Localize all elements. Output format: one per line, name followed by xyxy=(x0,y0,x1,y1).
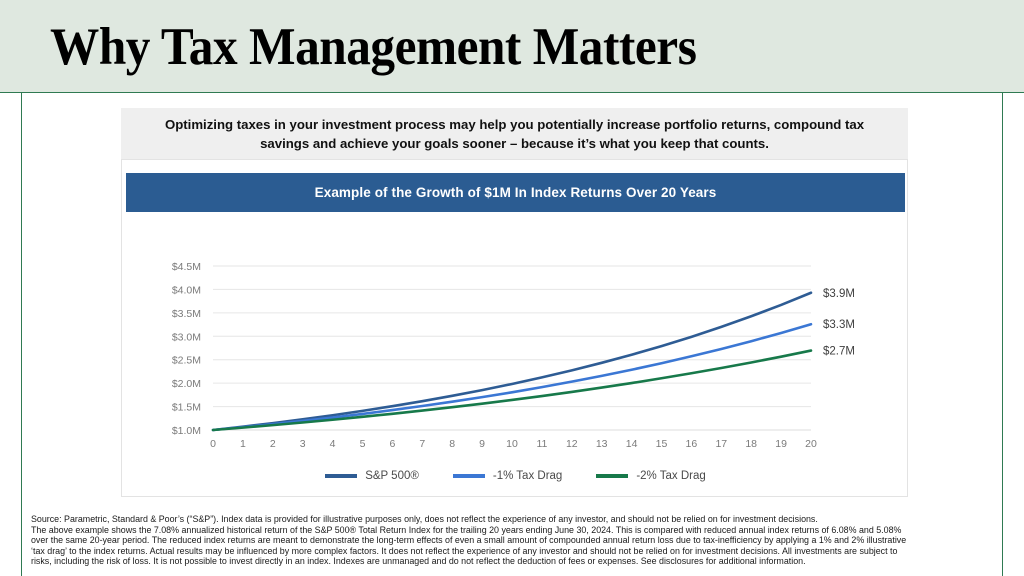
x-axis-tick-label: 8 xyxy=(449,438,455,450)
x-axis-tick-label: 4 xyxy=(330,438,336,450)
x-axis-tick-label: 11 xyxy=(536,438,547,450)
chart-series-line xyxy=(213,324,811,430)
x-axis-tick-label: 19 xyxy=(775,438,787,450)
x-axis-tick-label: 10 xyxy=(506,438,518,450)
x-axis-tick-label: 1 xyxy=(240,438,246,450)
y-axis-tick-label: $1.0M xyxy=(172,425,201,437)
footnote-line: Source: Parametric, Standard & Poor’s (“… xyxy=(31,514,996,525)
x-axis-tick-label: 12 xyxy=(566,438,578,450)
legend-label: -2% Tax Drag xyxy=(636,470,705,482)
footnote-line: The above example shows the 7.08% annual… xyxy=(31,525,996,536)
y-axis-tick-label: $2.5M xyxy=(172,355,201,367)
chart-legend: S&P 500®-1% Tax Drag-2% Tax Drag xyxy=(122,470,909,482)
y-axis-tick-label: $3.0M xyxy=(172,331,201,343)
footnote-disclosure: Source: Parametric, Standard & Poor’s (“… xyxy=(31,514,996,567)
subtitle-text: Optimizing taxes in your investment proc… xyxy=(165,115,865,153)
x-axis-tick-label: 13 xyxy=(596,438,608,450)
x-axis-tick-label: 9 xyxy=(479,438,485,450)
x-axis-tick-label: 7 xyxy=(419,438,425,450)
x-axis-tick-label: 15 xyxy=(656,438,668,450)
legend-swatch-icon xyxy=(596,474,628,478)
y-axis-tick-label: $3.5M xyxy=(172,308,201,320)
chart-card: Example of the Growth of $1M In Index Re… xyxy=(121,159,908,497)
growth-line-chart: $1.0M$1.5M$2.0M$2.5M$3.0M$3.5M$4.0M$4.5M… xyxy=(122,160,909,498)
legend-item[interactable]: -1% Tax Drag xyxy=(453,470,562,482)
y-axis-tick-label: $1.5M xyxy=(172,402,201,414)
x-axis-tick-label: 17 xyxy=(715,438,727,450)
x-axis-tick-label: 18 xyxy=(745,438,757,450)
series-end-value-label: $3.9M xyxy=(823,288,855,300)
x-axis-tick-label: 3 xyxy=(300,438,306,450)
x-axis-tick-label: 16 xyxy=(686,438,698,450)
chart-plot-area: $1.0M$1.5M$2.0M$2.5M$3.0M$3.5M$4.0M$4.5M… xyxy=(122,160,909,498)
x-axis-tick-label: 20 xyxy=(805,438,817,450)
legend-item[interactable]: S&P 500® xyxy=(325,470,419,482)
x-axis-tick-label: 5 xyxy=(360,438,366,450)
legend-item[interactable]: -2% Tax Drag xyxy=(596,470,705,482)
legend-swatch-icon xyxy=(325,474,357,478)
x-axis-tick-label: 6 xyxy=(389,438,395,450)
series-end-value-label: $3.3M xyxy=(823,319,855,331)
subtitle-block: Optimizing taxes in your investment proc… xyxy=(121,108,908,159)
y-axis-tick-label: $4.0M xyxy=(172,284,201,296)
footnote-line: over the same 20-year period. The reduce… xyxy=(31,535,996,546)
title-band: Why Tax Management Matters xyxy=(0,0,1024,93)
legend-label: -1% Tax Drag xyxy=(493,470,562,482)
x-axis-tick-label: 2 xyxy=(270,438,276,450)
x-axis-tick-label: 0 xyxy=(210,438,216,450)
x-axis-tick-label: 14 xyxy=(626,438,638,450)
legend-swatch-icon xyxy=(453,474,485,478)
series-end-value-label: $2.7M xyxy=(823,346,855,358)
page-title: Why Tax Management Matters xyxy=(50,16,696,78)
footnote-line: ‘tax drag’ to the index returns. Actual … xyxy=(31,546,996,557)
y-axis-tick-label: $2.0M xyxy=(172,378,201,390)
y-axis-tick-label: $4.5M xyxy=(172,261,201,273)
legend-label: S&P 500® xyxy=(365,470,419,482)
footnote-line: risks, including the risk of loss. It is… xyxy=(31,556,996,567)
